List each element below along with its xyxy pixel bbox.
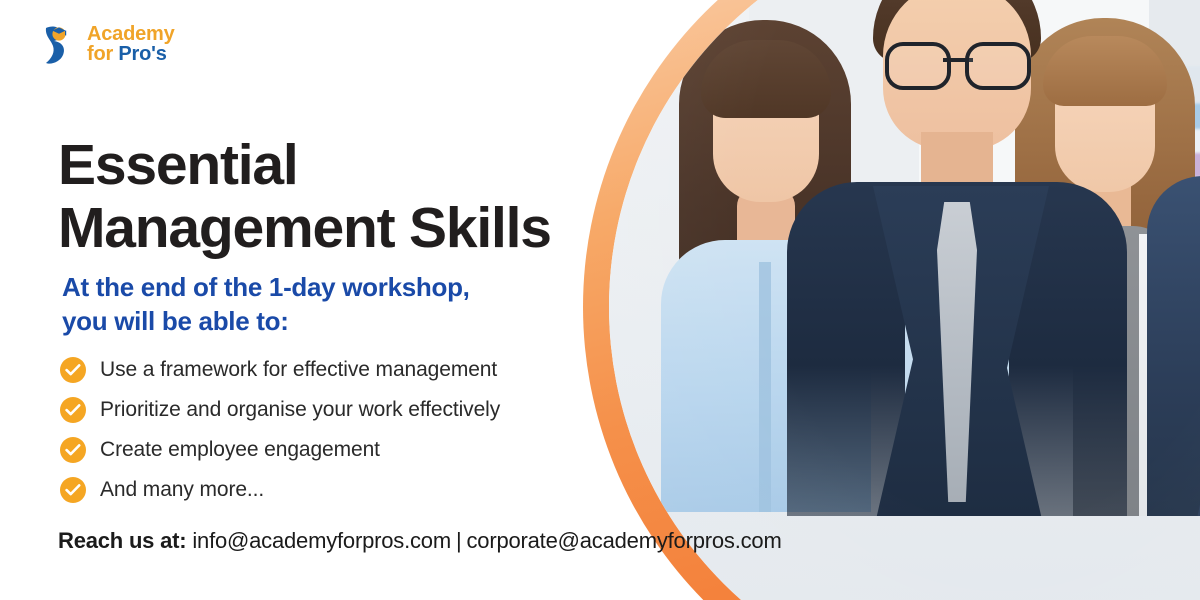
subheading-line2: you will be able to: bbox=[62, 306, 289, 336]
logo-word-pros: Pro's bbox=[118, 43, 166, 65]
list-item-label: And many more... bbox=[100, 478, 264, 502]
contact-separator: | bbox=[451, 528, 467, 553]
brand-logo: Academy for Pro's bbox=[40, 22, 175, 66]
list-item-label: Create employee engagement bbox=[100, 438, 380, 462]
list-item-label: Use a framework for effective management bbox=[100, 358, 497, 382]
team-photo bbox=[609, 0, 1200, 600]
headline-line2: Management Skills bbox=[58, 197, 638, 260]
logo-word-for: for bbox=[87, 43, 118, 65]
check-circle-icon bbox=[60, 477, 86, 503]
contact-line: Reach us at: info@academyforpros.com|cor… bbox=[58, 528, 782, 554]
list-item: Prioritize and organise your work effect… bbox=[60, 390, 640, 430]
check-circle-icon bbox=[60, 397, 86, 423]
objectives-list: Use a framework for effective management… bbox=[60, 350, 640, 510]
subheading: At the end of the 1-day workshop, you wi… bbox=[62, 270, 622, 339]
check-circle-icon bbox=[60, 437, 86, 463]
list-item: Create employee engagement bbox=[60, 430, 640, 470]
contact-lead: Reach us at: bbox=[58, 528, 186, 553]
headline-line1: Essential bbox=[58, 133, 298, 197]
list-item: Use a framework for effective management bbox=[60, 350, 640, 390]
check-circle-icon bbox=[60, 357, 86, 383]
page-title: Essential Management Skills bbox=[58, 134, 638, 259]
contact-email-secondary[interactable]: corporate@academyforpros.com bbox=[466, 528, 781, 553]
promotional-banner: Academy for Pro's Essential Management S… bbox=[0, 0, 1200, 600]
contact-email-primary[interactable]: info@academyforpros.com bbox=[192, 528, 451, 553]
content-column: Academy for Pro's Essential Management S… bbox=[0, 0, 640, 600]
logo-name-line1: Academy bbox=[87, 24, 175, 44]
list-item: And many more... bbox=[60, 470, 640, 510]
list-item-label: Prioritize and organise your work effect… bbox=[100, 398, 500, 422]
logo-name-line2: for Pro's bbox=[87, 44, 175, 64]
subheading-line1: At the end of the 1-day workshop, bbox=[62, 272, 470, 302]
academy-person-graduate-icon bbox=[40, 22, 80, 66]
photo-circle-mask bbox=[609, 0, 1200, 600]
